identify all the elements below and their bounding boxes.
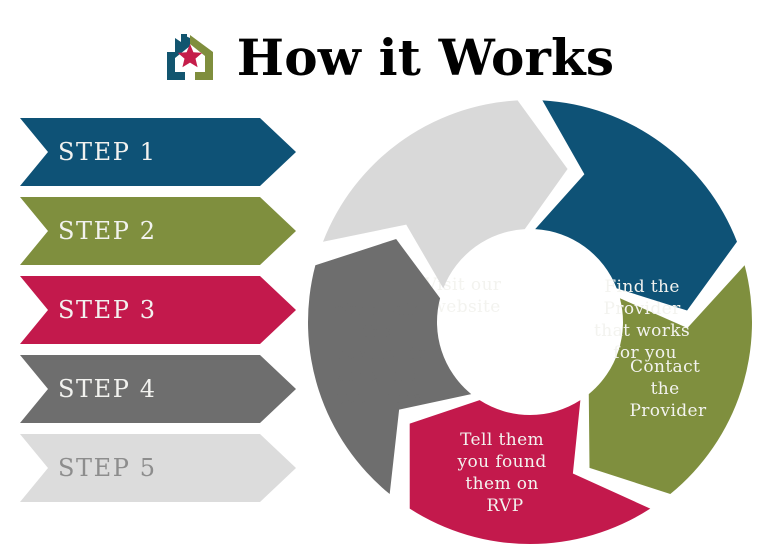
step-label-3: STEP 3: [58, 276, 157, 344]
step-item-1[interactable]: STEP 1: [20, 118, 296, 186]
process-cycle-donut-chart: Visit our website Find the Provider that…: [300, 100, 760, 550]
donut-segment-5-label: Work with the Provider to schedule your …: [327, 300, 434, 408]
seg3-line-1: Contact: [630, 357, 700, 377]
step-label-1: STEP 1: [58, 118, 157, 186]
seg3-line-3: Provider: [629, 401, 707, 421]
seg4-line-2: you found: [457, 452, 547, 472]
step-item-5[interactable]: STEP 5: [20, 434, 296, 502]
page-title: How it Works: [237, 33, 615, 83]
how-it-works-infographic: How it Works STEP 1 STEP 2 STEP 3 S: [0, 0, 775, 550]
page-header: How it Works: [0, 22, 775, 94]
seg3-line-2: the: [651, 379, 680, 399]
rvp-house-star-logo-icon: [161, 30, 219, 86]
step-label-4: STEP 4: [58, 355, 157, 423]
seg2-line-3: that works: [594, 321, 690, 341]
seg2-line-1: Find the: [604, 277, 680, 297]
step-item-4[interactable]: STEP 4: [20, 355, 296, 423]
seg4-line-3: them on: [465, 474, 538, 494]
seg5-line-3: Provider to: [327, 344, 428, 364]
seg4-line-1: Tell them: [460, 430, 544, 450]
seg4-line-4: RVP: [486, 496, 523, 516]
steps-list: STEP 1 STEP 2 STEP 3 STEP 4 STEP 5: [20, 118, 296, 502]
seg5-line-2: the: [363, 322, 392, 342]
seg2-line-2: Provider: [604, 299, 682, 319]
step-item-3[interactable]: STEP 3: [20, 276, 296, 344]
step-label-2: STEP 2: [58, 197, 157, 265]
step-label-5: STEP 5: [58, 434, 157, 502]
seg1-line-2: website: [431, 297, 500, 317]
seg5-line-5: your care: [336, 388, 423, 408]
seg5-line-4: schedule: [337, 366, 417, 386]
seg5-line-1: Work with: [331, 300, 423, 320]
step-item-2[interactable]: STEP 2: [20, 197, 296, 265]
donut-svg: Visit our website Find the Provider that…: [300, 100, 760, 550]
